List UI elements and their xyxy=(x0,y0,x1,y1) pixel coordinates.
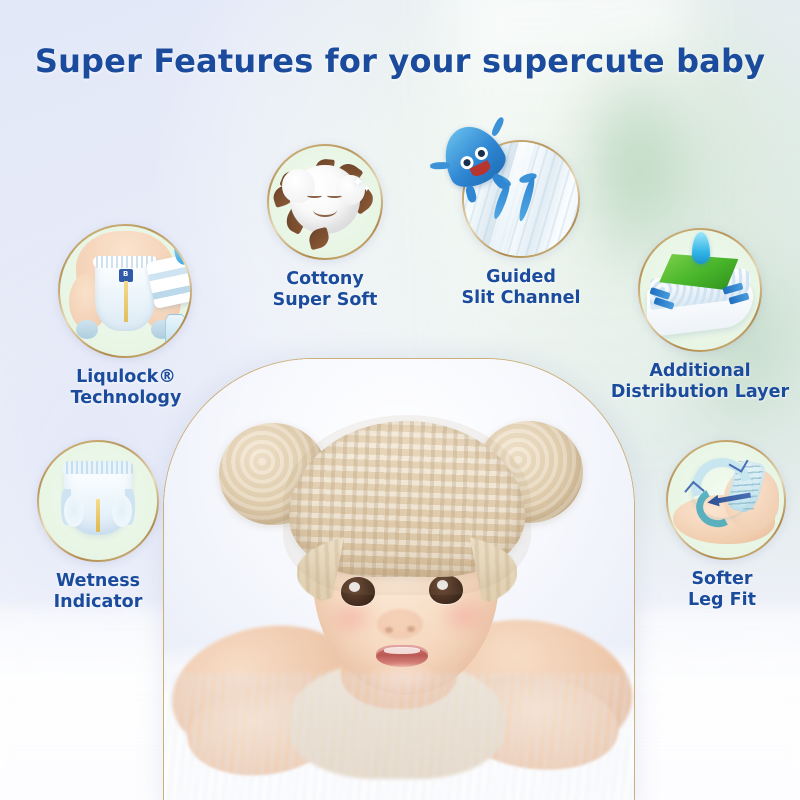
feature-label: Guided Slit Channel xyxy=(438,267,604,308)
feature-label: Liqulock® Technology xyxy=(44,367,208,408)
wetness-badge-circle[interactable] xyxy=(37,440,159,562)
infographic-canvas: Super Features for your supercute baby xyxy=(0,0,800,800)
feature-guided-slit-channel[interactable]: Guided Slit Channel xyxy=(438,140,604,308)
baby-nostril-right xyxy=(407,626,415,632)
feature-label: Additional Distribution Layer xyxy=(600,361,800,402)
feature-wetness-indicator[interactable]: Wetness Indicator xyxy=(16,440,180,612)
hero-rug-tufts xyxy=(164,673,634,800)
feature-additional-distribution-layer[interactable]: Additional Distribution Layer xyxy=(600,228,800,402)
liqulock-badge-circle[interactable]: B xyxy=(58,224,192,358)
cotton-boll-mascot-icon: ✦ ✦ xyxy=(269,146,381,258)
guided-badge-circle[interactable] xyxy=(462,140,580,258)
cotton-badge-circle[interactable]: ✦ ✦ xyxy=(267,144,383,260)
water-droplet-mascot-icon xyxy=(464,142,578,256)
baby-eye-left xyxy=(341,577,375,606)
baby-nose xyxy=(377,609,423,639)
leg-cuff-fit-icon xyxy=(668,442,784,558)
adl-badge-circle[interactable] xyxy=(638,228,762,352)
baby-bottom-diaper-absorption-icon: B xyxy=(60,226,190,356)
feature-label: Cottony Super Soft xyxy=(252,269,398,310)
baby-nostril-left xyxy=(385,627,393,633)
baby-mouth xyxy=(376,645,428,667)
page-title: Super Features for your supercute baby xyxy=(0,42,800,80)
baby-eye-right xyxy=(429,575,463,604)
diaper-pant-yellow-stripe-icon xyxy=(39,442,157,560)
hero-photo xyxy=(164,359,634,800)
feature-label: Softer Leg Fit xyxy=(646,569,798,610)
hero-photo-frame xyxy=(163,358,635,800)
green-layer-droplet-icon xyxy=(640,230,760,350)
feature-cottony-super-soft[interactable]: ✦ ✦ Cottony Super Soft xyxy=(252,144,398,310)
feature-softer-leg-fit[interactable]: Softer Leg Fit xyxy=(646,440,798,610)
feature-label: Wetness Indicator xyxy=(16,571,180,612)
softer-badge-circle[interactable] xyxy=(666,440,786,560)
feature-liqulock-technology[interactable]: B Liqulock® Technology xyxy=(44,224,208,408)
sparkle-small-icon: ✦ xyxy=(363,184,371,195)
